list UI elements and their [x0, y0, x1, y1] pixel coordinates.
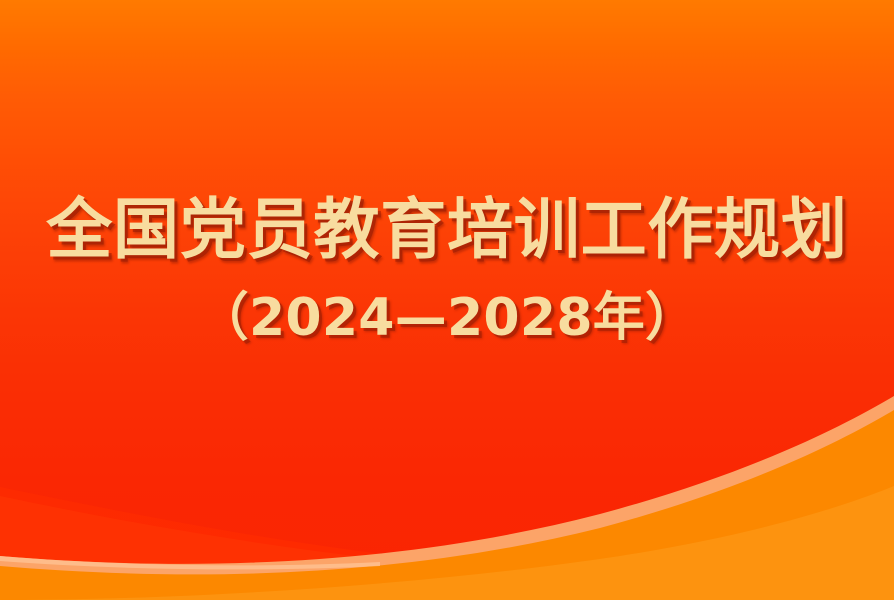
page-title: 全国党员教育培训工作规划: [0, 196, 894, 265]
page-subtitle: （2024—2028年）: [0, 291, 894, 346]
title-block: 全国党员教育培训工作规划 （2024—2028年）: [0, 196, 894, 345]
poster-banner: 全国党员教育培训工作规划 （2024—2028年）: [0, 0, 894, 600]
